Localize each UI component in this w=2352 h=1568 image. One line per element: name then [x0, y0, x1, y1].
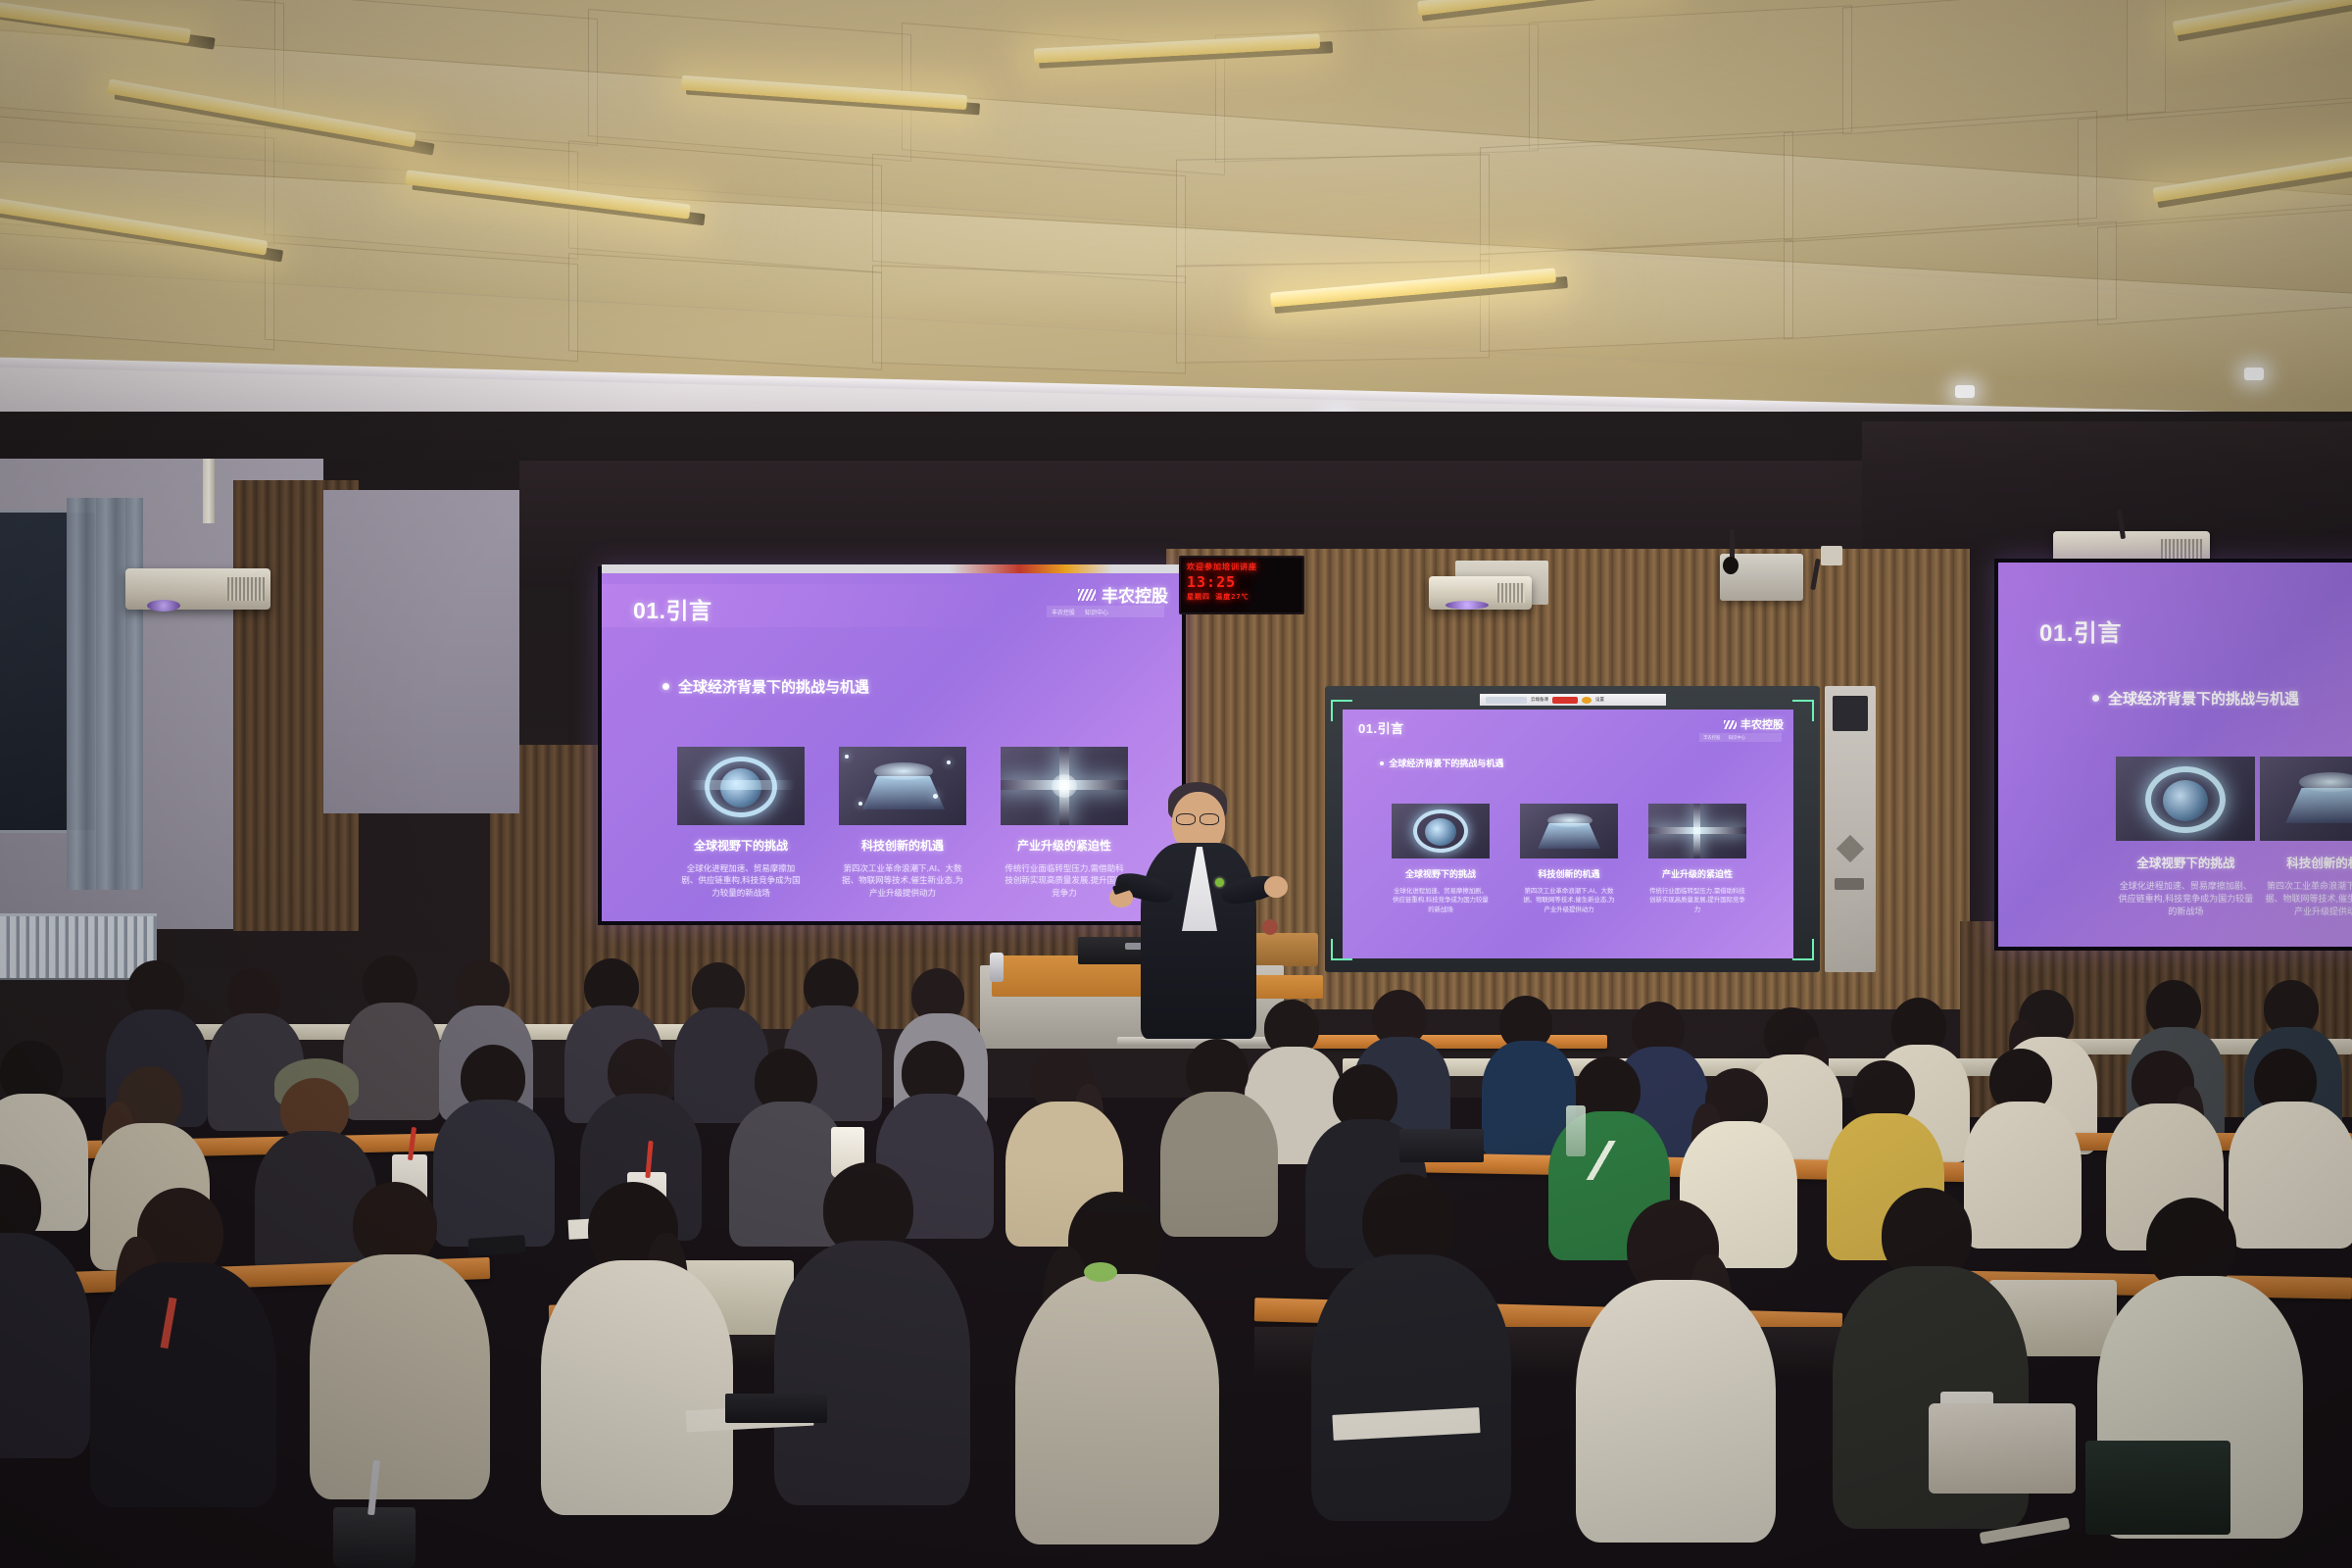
- bullet-dot-icon: [1380, 761, 1384, 765]
- toolbar-item-3[interactable]: 设置: [1595, 697, 1604, 703]
- smart-board-surface: 01.引言 全球经济背景下的挑战与机遇 全球视野下的挑战 全球化进程加速、贸易摩…: [1343, 710, 1793, 958]
- column-heading: 产业升级的紧迫性: [1017, 837, 1111, 854]
- board-bullet-text: 全球经济背景下的挑战与机遇: [1389, 757, 1503, 769]
- board-side-screen: [1833, 696, 1868, 731]
- data-nodes-icon: [1520, 804, 1618, 858]
- brand-sub-left: 丰农控股: [1703, 735, 1721, 741]
- brand-mark-icon: [1078, 589, 1096, 601]
- column-body: 第四次工业革命浪潮下,AI、大数据、物联网等技术,催生新业态,为产业升级提供动力: [841, 862, 964, 899]
- board-column: 产业升级的紧迫性 传统行业面临转型压力,需借助科技创新实现高质量发展,提升国际竞…: [1644, 804, 1750, 914]
- hair-clip: [1084, 1262, 1117, 1282]
- light-burst-icon: [1001, 747, 1128, 825]
- presenter: [1117, 782, 1284, 1037]
- board-corner-marker: [1792, 700, 1814, 721]
- brand-sub-right: 知识中心: [1729, 735, 1746, 741]
- toolbar-item-0[interactable]: 云端备课: [1531, 697, 1548, 703]
- slide-bullet: 全球经济背景下的挑战与机遇: [662, 676, 869, 697]
- right-column: 全球视野下的挑战 全球化进程加速、贸易摩擦加剧、供应链重构,科技竞争成为国力较量…: [2114, 757, 2258, 918]
- handbag: [1929, 1403, 2076, 1494]
- board-corner-marker: [1331, 700, 1352, 721]
- light-burst-icon: [1648, 804, 1746, 858]
- board-slide-header: 01.引言: [1358, 718, 1404, 737]
- board-brand-subtitle: 丰农控股 知识中心: [1699, 733, 1782, 742]
- main-projection-screen: 01.引言 全球经济背景下的挑战与机遇 全球视野下的挑战 全球化进程加速、贸易摩…: [598, 566, 1186, 925]
- led-info-display: 欢迎参加培训讲座 13:25 星期四 温度27℃: [1179, 556, 1304, 614]
- data-nodes-icon: [2260, 757, 2352, 841]
- column-body: 全球化进程加速、贸易摩擦加剧、供应链重构,科技竞争成为国力较量的新战场: [679, 862, 803, 899]
- bullet-dot-icon: [662, 683, 669, 690]
- brand-logo: 丰农控股: [1078, 582, 1168, 607]
- main-screen-top-chrome: [602, 564, 1182, 573]
- slide-column: 全球视野下的挑战 全球化进程加速、贸易摩擦加剧、供应链重构,科技竞争成为国力较量…: [672, 747, 809, 899]
- power-outlet[interactable]: [1821, 546, 1842, 565]
- brand-name: 丰农控股: [1102, 582, 1168, 607]
- shirt-graphic: [1586, 1141, 1621, 1180]
- right-screen-surface: 01.引言 全球经济背景下的挑战与机遇 全球视野下的挑战 全球化进程加速、贸易摩…: [1998, 563, 2352, 947]
- tumbler-cup: [333, 1507, 416, 1568]
- slide-bullet-text: 全球经济背景下的挑战与机遇: [678, 676, 869, 697]
- presenter-right-hand: [1264, 876, 1288, 898]
- led-line-1: 欢迎参加培训讲座: [1187, 562, 1297, 572]
- main-screen-surface: 01.引言 全球经济背景下的挑战与机遇 全球视野下的挑战 全球化进程加速、贸易摩…: [602, 570, 1182, 921]
- board-slide-bullet: 全球经济背景下的挑战与机遇: [1380, 757, 1503, 769]
- projector-mount-pole: [203, 459, 215, 523]
- column-heading: 全球视野下的挑战: [2136, 853, 2234, 871]
- board-corner-marker: [1331, 939, 1352, 960]
- toolbar-chip-amber[interactable]: [1582, 697, 1592, 704]
- laptop[interactable]: [725, 1394, 827, 1423]
- eyeglasses-icon: [1176, 813, 1196, 825]
- brand-subtitle-bar: 丰农控股 知识中心: [1047, 606, 1164, 617]
- toolbar-chip[interactable]: [1486, 697, 1527, 704]
- right-slide-header: 01.引言: [2039, 613, 2122, 648]
- slide-header: 01.引言: [633, 592, 711, 625]
- column-body: 第四次工业革命浪潮下,AI、大数据、物联网等技术,催生新业态,为产业升级提供动力: [2262, 880, 2352, 918]
- front-desk: [1303, 1035, 1607, 1049]
- right-bullet-text: 全球经济背景下的挑战与机遇: [2108, 688, 2299, 709]
- led-line-2: 13:25: [1187, 573, 1297, 591]
- smart-board-toolbar[interactable]: 云端备课 设置: [1480, 694, 1666, 706]
- board-column: 全球视野下的挑战 全球化进程加速、贸易摩擦加剧、供应链重构,科技竞争成为国力较量…: [1388, 804, 1494, 914]
- column-heading: 全球视野下的挑战: [1405, 867, 1476, 880]
- globe-network-icon: [2116, 757, 2255, 841]
- column-heading: 科技创新的机遇: [1538, 867, 1599, 880]
- right-projection-screen: 01.引言 全球经济背景下的挑战与机遇 全球视野下的挑战 全球化进程加速、贸易摩…: [1994, 559, 2352, 951]
- downlight-icon: [1955, 385, 1975, 398]
- column-body: 传统行业面临转型压力,需借助科技创新实现高质量发展,提升国际竞争力: [1003, 862, 1126, 899]
- board-corner-marker: [1792, 939, 1814, 960]
- brand-sub-left: 丰农控股: [1052, 608, 1075, 616]
- brand-mark-icon: [1724, 720, 1737, 729]
- window-curtain: [67, 498, 143, 890]
- right-column: 科技创新的机遇 第四次工业革命浪潮下,AI、大数据、物联网等技术,催生新业态,为…: [2258, 757, 2352, 918]
- brand-sub-right: 知识中心: [1085, 608, 1108, 616]
- board-brand-logo: 丰农控股: [1724, 716, 1784, 732]
- column-body: 传统行业面临转型压力,需借助科技创新实现高质量发展,提升国际竞争力: [1649, 887, 1745, 914]
- data-nodes-icon: [839, 747, 966, 825]
- microphone-icon: [1723, 557, 1739, 574]
- bullet-dot-icon: [2092, 695, 2099, 702]
- projector-lens: [147, 600, 180, 612]
- globe-network-icon: [1392, 804, 1490, 858]
- toolbar-chip-red[interactable]: [1552, 697, 1578, 704]
- downlight-icon: [2244, 367, 2264, 380]
- water-bottle: [1566, 1105, 1586, 1156]
- column-heading: 科技创新的机遇: [2286, 853, 2352, 871]
- brand-name: 丰农控股: [1740, 716, 1784, 732]
- slide-column: 科技创新的机遇 第四次工业革命浪潮下,AI、大数据、物联网等技术,催生新业态,为…: [834, 747, 971, 899]
- column-heading: 科技创新的机遇: [861, 837, 944, 854]
- smart-board[interactable]: 云端备课 设置 01.引言 全球经济背景下的挑战与机遇 全球视野下的挑战 全球化…: [1325, 686, 1820, 972]
- column-body: 第四次工业革命浪潮下,AI、大数据、物联网等技术,催生新业态,为产业升级提供动力: [1521, 887, 1617, 914]
- led-line-3: 星期四 温度27℃: [1187, 592, 1297, 602]
- board-side-button[interactable]: [1835, 878, 1864, 890]
- globe-network-icon: [677, 747, 805, 825]
- column-body: 全球化进程加速、贸易摩擦加剧、供应链重构,科技竞争成为国力较量的新战场: [1393, 887, 1489, 914]
- tissue-box: [2085, 1441, 2230, 1535]
- column-heading: 全球视野下的挑战: [694, 837, 788, 854]
- board-column: 科技创新的机遇 第四次工业革命浪潮下,AI、大数据、物联网等技术,催生新业态,为…: [1516, 804, 1622, 914]
- wall-plaster-mid: [323, 490, 519, 813]
- column-heading: 产业升级的紧迫性: [1662, 867, 1733, 880]
- slide-column: 产业升级的紧迫性 传统行业面临转型压力,需借助科技创新实现高质量发展,提升国际竞…: [996, 747, 1133, 899]
- projector-lens: [1445, 601, 1489, 610]
- smartphone[interactable]: [467, 1235, 525, 1256]
- lapel-pin: [1215, 878, 1224, 887]
- thermos-flask: [990, 953, 1004, 982]
- eyeglasses-icon: [1200, 813, 1219, 825]
- laptop[interactable]: [1399, 1129, 1484, 1162]
- right-slide-bullet: 全球经济背景下的挑战与机遇: [2092, 688, 2299, 709]
- lecture-hall-scene: 01.引言 全球经济背景下的挑战与机遇 全球视野下的挑战 全球化进程加速、贸易摩…: [0, 0, 2352, 1568]
- column-body: 全球化进程加速、贸易摩擦加剧、供应链重构,科技竞争成为国力较量的新战场: [2118, 880, 2253, 918]
